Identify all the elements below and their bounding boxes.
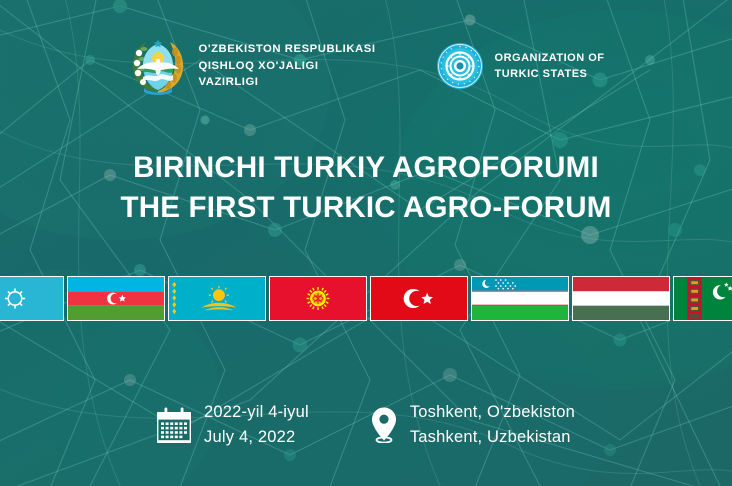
flag-organization-of-turkic-states <box>0 276 64 321</box>
logo-organization-of-turkic-states: ORGANIZATION OF TURKIC STATES <box>436 42 605 90</box>
flag-kyrgyzstan <box>269 276 367 321</box>
organization-of-turkic-states-emblem-icon <box>436 42 484 90</box>
ministry-logo-label: O'ZBEKISTON RESPUBLIKASI QISHLOQ XO'JALI… <box>199 41 376 90</box>
event-date: 2022-yil 4-iyul July 4, 2022 <box>157 400 309 451</box>
logo-ministry-of-agriculture: O'ZBEKISTON RESPUBLIKASI QISHLOQ XO'JALI… <box>128 36 376 96</box>
flag-kazakhstan <box>168 276 266 321</box>
event-location: Toshkent, O'zbekiston Tashkent, Uzbekist… <box>371 400 575 451</box>
flag-turkmenistan <box>673 276 732 321</box>
title-english: THE FIRST TURKIC AGRO-FORUM <box>40 188 692 228</box>
ots-logo-label: ORGANIZATION OF TURKIC STATES <box>495 50 605 83</box>
map-pin-icon <box>371 407 397 443</box>
poster-canvas: O'ZBEKISTON RESPUBLIKASI QISHLOQ XO'JALI… <box>0 0 732 486</box>
calendar-icon <box>157 407 191 443</box>
flag-hungary <box>572 276 670 321</box>
event-location-text: Toshkent, O'zbekiston Tashkent, Uzbekist… <box>410 400 575 451</box>
uzbekistan-state-emblem-icon <box>128 36 188 96</box>
event-date-text: 2022-yil 4-iyul July 4, 2022 <box>204 400 309 451</box>
flag-turkey <box>370 276 468 321</box>
member-flags-strip <box>0 276 698 321</box>
event-details: 2022-yil 4-iyul July 4, 2022 Toshkent, O… <box>0 400 732 451</box>
flag-uzbekistan <box>471 276 569 321</box>
title-uzbek: BIRINCHI TURKIY AGROFORUMI <box>40 148 692 188</box>
poster-title-block: BIRINCHI TURKIY AGROFORUMI THE FIRST TUR… <box>0 148 732 228</box>
flag-azerbaijan <box>67 276 165 321</box>
header-logos: O'ZBEKISTON RESPUBLIKASI QISHLOQ XO'JALI… <box>0 36 732 96</box>
